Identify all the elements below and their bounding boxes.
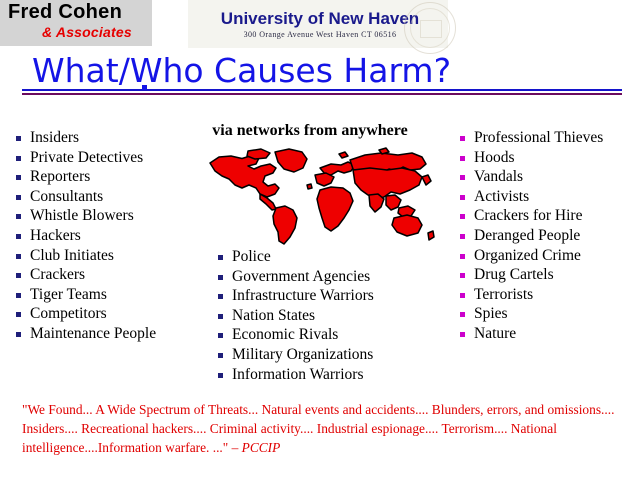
square-bullet-icon: [16, 214, 21, 219]
list-item-label: Nation States: [232, 307, 315, 324]
list-item-label: Activists: [474, 188, 529, 205]
list-item-label: Crackers: [30, 266, 85, 283]
list-item-label: Nature: [474, 325, 516, 342]
list-item: Drug Cartels: [458, 265, 640, 285]
quote-block: "We Found... A Wide Spectrum of Threats.…: [22, 400, 622, 457]
square-bullet-icon: [16, 273, 21, 278]
list-item: Crackers: [14, 265, 204, 285]
square-bullet-icon: [218, 373, 223, 378]
list-item-label: Deranged People: [474, 227, 580, 244]
center-heading: via networks from anywhere: [180, 122, 440, 140]
square-bullet-icon: [16, 156, 21, 161]
list-item: Professional Thieves: [458, 128, 640, 148]
list-item: Nation States: [216, 306, 436, 326]
list-item-label: Hackers: [30, 227, 81, 244]
quote-attribution: PCCIP: [242, 440, 281, 455]
list-item-label: Government Agencies: [232, 268, 370, 285]
list-item: Information Warriors: [216, 365, 436, 385]
title-rule-tick: [142, 85, 147, 90]
list-item: Military Organizations: [216, 345, 436, 365]
list-item-label: Vandals: [474, 168, 523, 185]
right-threat-list: Professional Thieves Hoods Vandals Activ…: [458, 128, 640, 344]
list-item: Police: [216, 247, 436, 267]
list-item: Spies: [458, 304, 640, 324]
list-item: Hoods: [458, 148, 640, 168]
square-bullet-icon: [460, 214, 465, 219]
square-bullet-icon: [218, 294, 223, 299]
list-item: Reporters: [14, 167, 204, 187]
list-item-label: Consultants: [30, 188, 103, 205]
list-item-label: Competitors: [30, 305, 107, 322]
left-list: Insiders Private Detectives Reporters Co…: [14, 128, 204, 344]
square-bullet-icon: [218, 255, 223, 260]
list-item: Deranged People: [458, 226, 640, 246]
list-item: Vandals: [458, 167, 640, 187]
list-item: Consultants: [14, 187, 204, 207]
list-item-label: Crackers for Hire: [474, 207, 582, 224]
square-bullet-icon: [218, 275, 223, 280]
list-item: Hackers: [14, 226, 204, 246]
list-item: Terrorists: [458, 285, 640, 305]
list-item-label: Police: [232, 248, 271, 265]
list-item: Insiders: [14, 128, 204, 148]
left-threat-list: Insiders Private Detectives Reporters Co…: [14, 128, 204, 344]
quote-text: "We Found... A Wide Spectrum of Threats.…: [22, 402, 614, 455]
list-item: Nature: [458, 324, 640, 344]
slide-header: Fred Cohen & Associates University of Ne…: [0, 0, 640, 50]
square-bullet-icon: [218, 353, 223, 358]
fred-cohen-logo: Fred Cohen & Associates: [0, 0, 152, 46]
list-item-label: Organized Crime: [474, 247, 581, 264]
square-bullet-icon: [16, 175, 21, 180]
list-item: Economic Rivals: [216, 325, 436, 345]
square-bullet-icon: [460, 293, 465, 298]
square-bullet-icon: [16, 332, 21, 337]
square-bullet-icon: [460, 136, 465, 141]
list-item-label: Terrorists: [474, 286, 533, 303]
list-item-label: Private Detectives: [30, 149, 143, 166]
company-name: Fred Cohen: [8, 1, 122, 24]
title-block: What/Who Causes Harm?: [0, 52, 640, 90]
company-tagline: & Associates: [42, 24, 132, 40]
list-item-label: Infrastructure Warriors: [232, 287, 374, 304]
square-bullet-icon: [460, 332, 465, 337]
center-threat-list: Police Government Agencies Infrastructur…: [216, 247, 436, 384]
list-item: Activists: [458, 187, 640, 207]
list-item: Government Agencies: [216, 267, 436, 287]
square-bullet-icon: [460, 234, 465, 239]
list-item-label: Maintenance People: [30, 325, 156, 342]
list-item-label: Military Organizations: [232, 346, 373, 363]
list-item-label: Insiders: [30, 129, 79, 146]
title-rule-purple: [22, 93, 622, 95]
list-item: Club Initiates: [14, 246, 204, 266]
square-bullet-icon: [460, 195, 465, 200]
list-item: Whistle Blowers: [14, 206, 204, 226]
square-bullet-icon: [16, 293, 21, 298]
list-item: Infrastructure Warriors: [216, 286, 436, 306]
list-item: Maintenance People: [14, 324, 204, 344]
list-item-label: Reporters: [30, 168, 90, 185]
list-item: Tiger Teams: [14, 285, 204, 305]
right-list: Professional Thieves Hoods Vandals Activ…: [458, 128, 640, 344]
center-list: Police Government Agencies Infrastructur…: [216, 247, 436, 384]
square-bullet-icon: [16, 136, 21, 141]
square-bullet-icon: [16, 234, 21, 239]
square-bullet-icon: [218, 314, 223, 319]
world-map-icon: [200, 142, 440, 247]
list-item: Crackers for Hire: [458, 206, 640, 226]
page-title: What/Who Causes Harm?: [0, 52, 640, 90]
square-bullet-icon: [460, 312, 465, 317]
list-item-label: Spies: [474, 305, 508, 322]
square-bullet-icon: [460, 254, 465, 259]
university-seal-icon: [404, 2, 456, 54]
list-item-label: Drug Cartels: [474, 266, 554, 283]
list-item: Private Detectives: [14, 148, 204, 168]
list-item-label: Professional Thieves: [474, 129, 603, 146]
list-item-label: Economic Rivals: [232, 326, 338, 343]
list-item-label: Whistle Blowers: [30, 207, 134, 224]
list-item: Organized Crime: [458, 246, 640, 266]
square-bullet-icon: [16, 195, 21, 200]
square-bullet-icon: [218, 333, 223, 338]
list-item-label: Hoods: [474, 149, 514, 166]
square-bullet-icon: [16, 254, 21, 259]
square-bullet-icon: [460, 175, 465, 180]
square-bullet-icon: [16, 312, 21, 317]
list-item-label: Club Initiates: [30, 247, 114, 264]
square-bullet-icon: [460, 156, 465, 161]
list-item: Competitors: [14, 304, 204, 324]
list-item-label: Tiger Teams: [30, 286, 107, 303]
list-item-label: Information Warriors: [232, 366, 363, 383]
title-rule-blue: [22, 89, 622, 91]
square-bullet-icon: [460, 273, 465, 278]
